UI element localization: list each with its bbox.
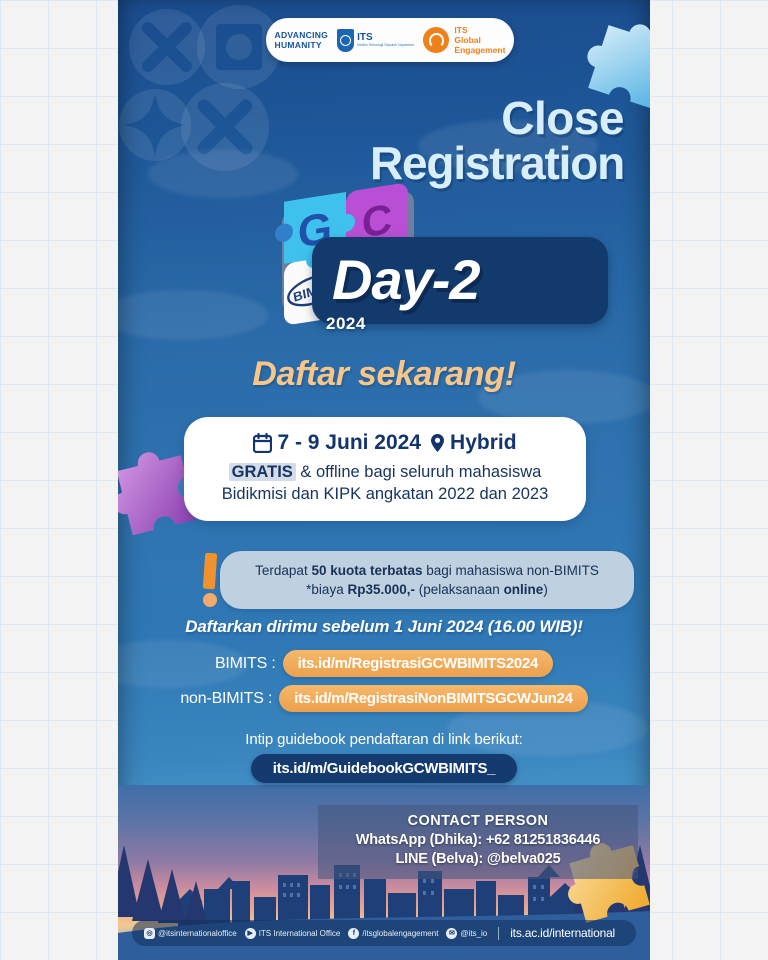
eligibility-line-2: Bidikmisi dan KIPK angkatan 2022 dan 202… [196, 484, 574, 506]
event-info-card: 7 - 9 Juni 2024 Hybrid GRATIS & offline … [184, 417, 586, 521]
event-date-text: 7 - 9 Juni 2024 [277, 431, 421, 455]
quota-text-bubble: Terdapat 50 kuota terbatas bagi mahasisw… [220, 551, 634, 609]
event-meta-row: 7 - 9 Juni 2024 Hybrid [196, 431, 574, 455]
contact-title: CONTACT PERSON [328, 813, 628, 829]
ornament-x-icon [128, 8, 206, 86]
poster-canvas: ADVANCING HUMANITY ITS Institut Teknolog… [118, 0, 650, 960]
page-title: Close Registration [370, 96, 624, 186]
cloud-shape [118, 290, 268, 340]
twitter-handle: @its_io [460, 929, 487, 938]
facebook-handle: /itsglobalengagement [362, 929, 438, 938]
social-footer-bar: ◎ @itsinternationaloffice ▶ ITS Internat… [132, 920, 636, 946]
its-shield-icon [337, 29, 354, 52]
contact-line-id: LINE (Belva): @belva025 [328, 850, 628, 869]
quota-exclamation-icon [200, 553, 222, 607]
headline-line-1: Close [370, 96, 624, 141]
deadline-text: Daftarkan dirimu sebelum 1 Juni 2024 (16… [118, 617, 650, 637]
location-pin-icon [430, 433, 445, 453]
global-engagement-icon [423, 27, 449, 53]
free-rest-text: & offline bagi seluruh mahasiswa [296, 463, 542, 481]
footer-youtube[interactable]: ▶ ITS International Office [245, 928, 341, 939]
nonbimits-link-pill[interactable]: its.id/m/RegistrasiNonBIMITSGCWJun24 [279, 685, 587, 712]
header-logo-badge: ADVANCING HUMANITY ITS Institut Teknolog… [266, 18, 514, 62]
day-label: Day-2 [332, 247, 480, 312]
eligibility-text: GRATIS & offline bagi seluruh mahasiswa … [196, 462, 574, 506]
registration-link-bimits[interactable]: BIMITS : its.id/m/RegistrasiGCWBIMITS202… [118, 650, 650, 677]
cta-headline: Daftar sekarang! [118, 355, 650, 394]
gratis-tag: GRATIS [229, 463, 296, 481]
event-mode-text: Hybrid [450, 431, 517, 455]
footer-instagram[interactable]: ◎ @itsinternationaloffice [144, 928, 237, 939]
twitter-icon: ✉ [446, 928, 457, 939]
contact-person-block: CONTACT PERSON WhatsApp (Dhika): +62 812… [318, 805, 638, 879]
youtube-handle: ITS International Office [259, 929, 341, 938]
instagram-handle: @itsinternationaloffice [158, 929, 237, 938]
footer-divider [498, 927, 499, 940]
registration-link-nonbimits[interactable]: non-BIMITS : its.id/m/RegistrasiNonBIMIT… [118, 685, 650, 712]
footer-facebook[interactable]: f /itsglobalengagement [348, 928, 438, 939]
its-subtitle: Institut Teknologi Sepuluh Nopember [357, 43, 414, 47]
quota-line-2: *biaya Rp35.000,- (pelaksanaan online) [236, 580, 618, 599]
nonbimits-label: non-BIMITS : [180, 690, 272, 708]
youtube-icon: ▶ [245, 928, 256, 939]
global-engagement-text: ITS Global Engagement [454, 25, 505, 56]
gcw-year-label: 2024 [326, 314, 366, 334]
footer-website[interactable]: its.ac.id/international [510, 926, 615, 940]
bimits-link-pill[interactable]: its.id/m/RegistrasiGCWBIMITS2024 [283, 650, 553, 677]
guidebook-link-wrap: its.id/m/GuidebookGCWBIMITS_ [118, 754, 650, 783]
calendar-icon [253, 433, 272, 453]
its-wordmark: ITS [357, 33, 414, 43]
footer-twitter[interactable]: ✉ @its_io [446, 928, 487, 939]
event-mode: Hybrid [430, 431, 517, 455]
instagram-icon: ◎ [144, 928, 155, 939]
global-engagement-logo: ITS Global Engagement [423, 25, 505, 56]
bimits-label: BIMITS : [215, 655, 276, 673]
event-date: 7 - 9 Juni 2024 [253, 431, 421, 455]
guidebook-caption: Intip guidebook pendaftaran di link beri… [118, 731, 650, 748]
contact-whatsapp: WhatsApp (Dhika): +62 81251836446 [328, 831, 628, 850]
its-logo: ITS Institut Teknologi Sepuluh Nopember [337, 29, 414, 52]
facebook-icon: f [348, 928, 359, 939]
advancing-humanity-text: ADVANCING HUMANITY [275, 30, 329, 51]
guidebook-link-pill[interactable]: its.id/m/GuidebookGCWBIMITS_ [251, 754, 517, 783]
quota-line-1: Terdapat 50 kuota terbatas bagi mahasisw… [236, 561, 618, 580]
